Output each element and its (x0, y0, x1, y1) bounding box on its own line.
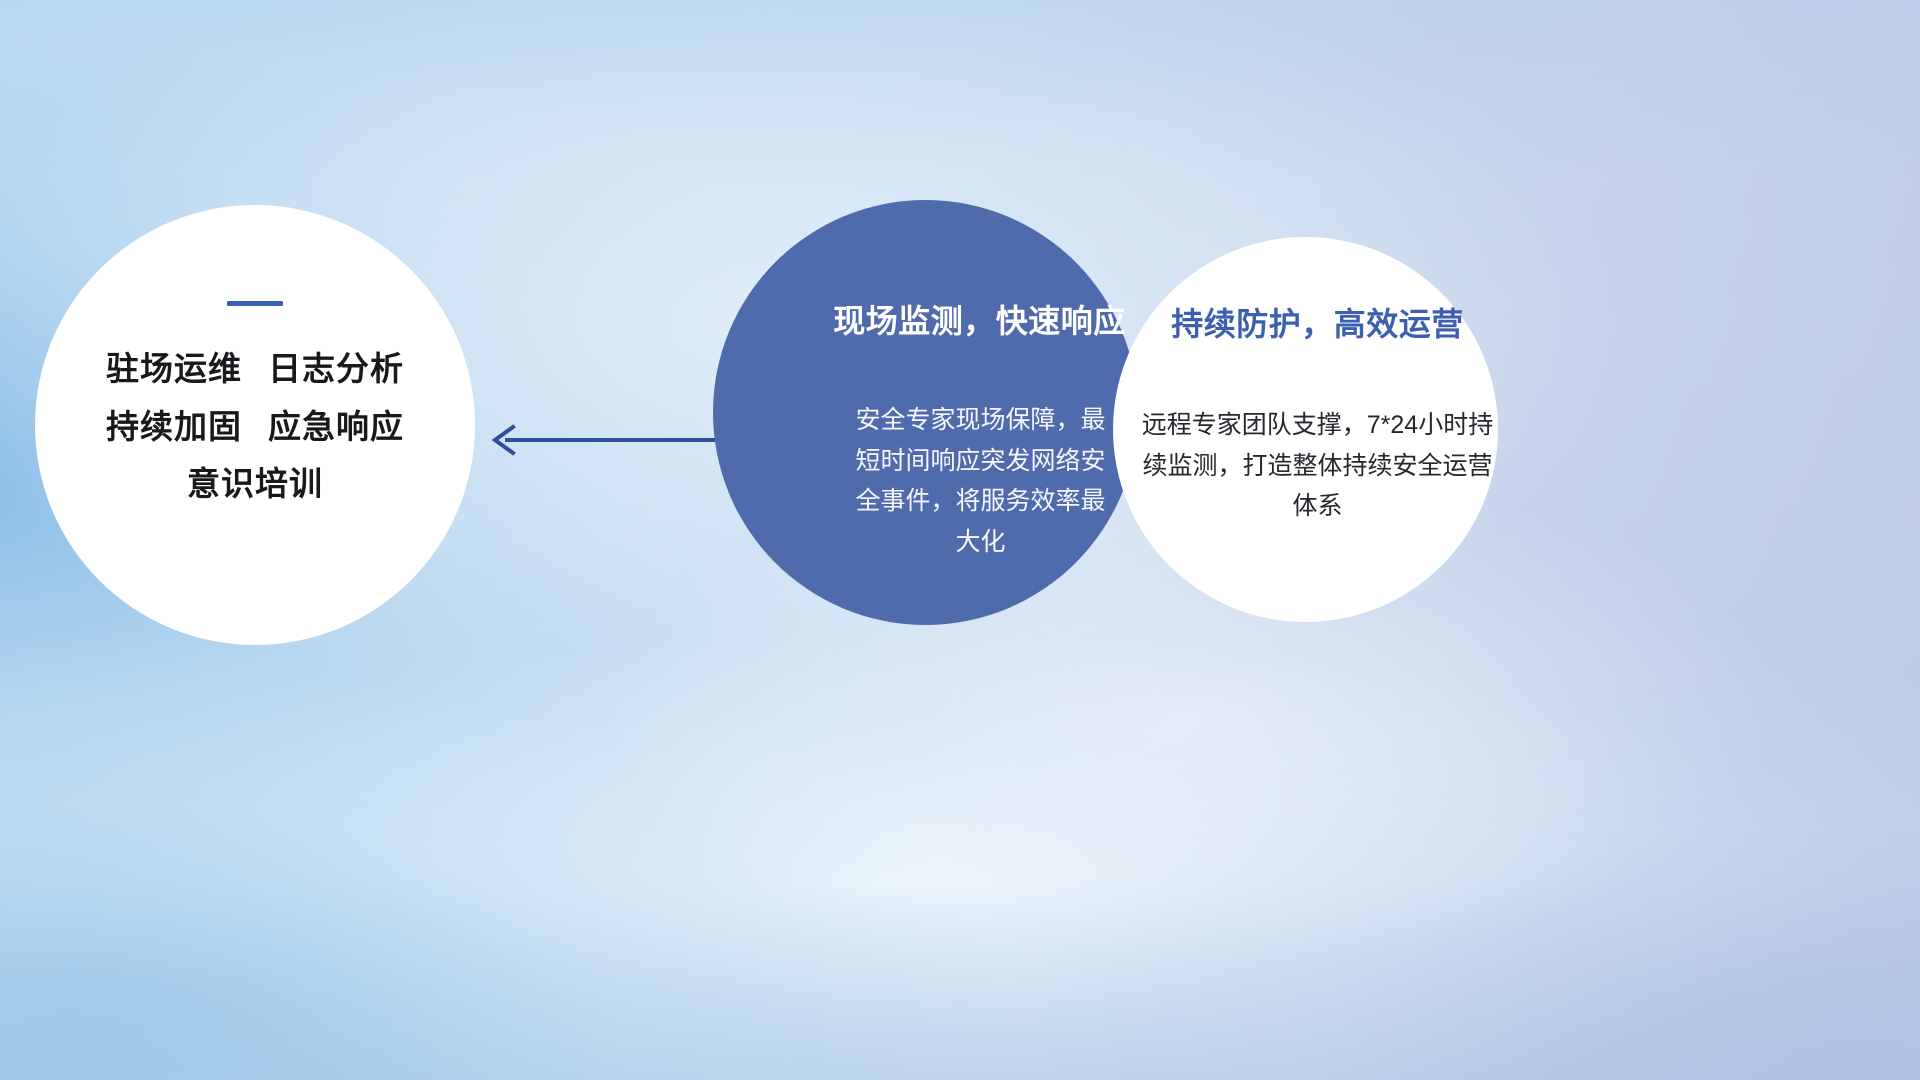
capability-label-yishi-peixun: 意识培训 (187, 465, 323, 502)
right-circle-body: 远程专家团队支撑，7*24小时持续监测，打造整体持续安全运营体系 (1142, 405, 1494, 527)
capability-label-zhuchang-yunwei: 驻场运维 (106, 350, 242, 387)
center-circle-body: 安全专家现场保障，最短时间响应突发网络安全事件，将服务效率最大化 (850, 400, 1112, 562)
left-circle-content: 驻场运维日志分析 持续加固应急响应 意识培训 (35, 205, 475, 645)
capability-list: 驻场运维日志分析 持续加固应急响应 意识培训 (106, 352, 404, 502)
left-circle-capabilities: 驻场运维日志分析 持续加固应急响应 意识培训 (35, 205, 475, 645)
capability-row-1: 驻场运维日志分析 (106, 352, 404, 387)
capability-label-rizhi-fenxi: 日志分析 (268, 350, 404, 387)
right-circle-title: 持续防护，高效运营 (1171, 299, 1464, 345)
capability-label-yingji-xiangying: 应急响应 (268, 408, 404, 445)
center-circle-onsite-monitoring: 现场监测，快速响应 安全专家现场保障，最短时间响应突发网络安全事件，将服务效率最… (713, 200, 1138, 625)
diagram-canvas: 驻场运维日志分析 持续加固应急响应 意识培训 现场监测，快速响应 安全专家现场保… (0, 0, 1920, 1080)
capability-row-2: 持续加固应急响应 (106, 410, 404, 445)
capability-row-3: 意识培训 (187, 467, 323, 502)
left-arrow-icon (487, 416, 717, 464)
right-circle-content: 持续防护，高效运营 远程专家团队支撑，7*24小时持续监测，打造整体持续安全运营… (1113, 237, 1498, 622)
capability-label-chixu-jiagu: 持续加固 (106, 408, 242, 445)
center-circle-content: 现场监测，快速响应 安全专家现场保障，最短时间响应突发网络安全事件，将服务效率最… (713, 200, 1138, 625)
flow-arrow (487, 416, 717, 464)
divider-dash (227, 301, 283, 306)
right-circle-continuous-protection: 持续防护，高效运营 远程专家团队支撑，7*24小时持续监测，打造整体持续安全运营… (1113, 237, 1498, 622)
center-circle-title: 现场监测，快速响应 (833, 296, 1126, 342)
